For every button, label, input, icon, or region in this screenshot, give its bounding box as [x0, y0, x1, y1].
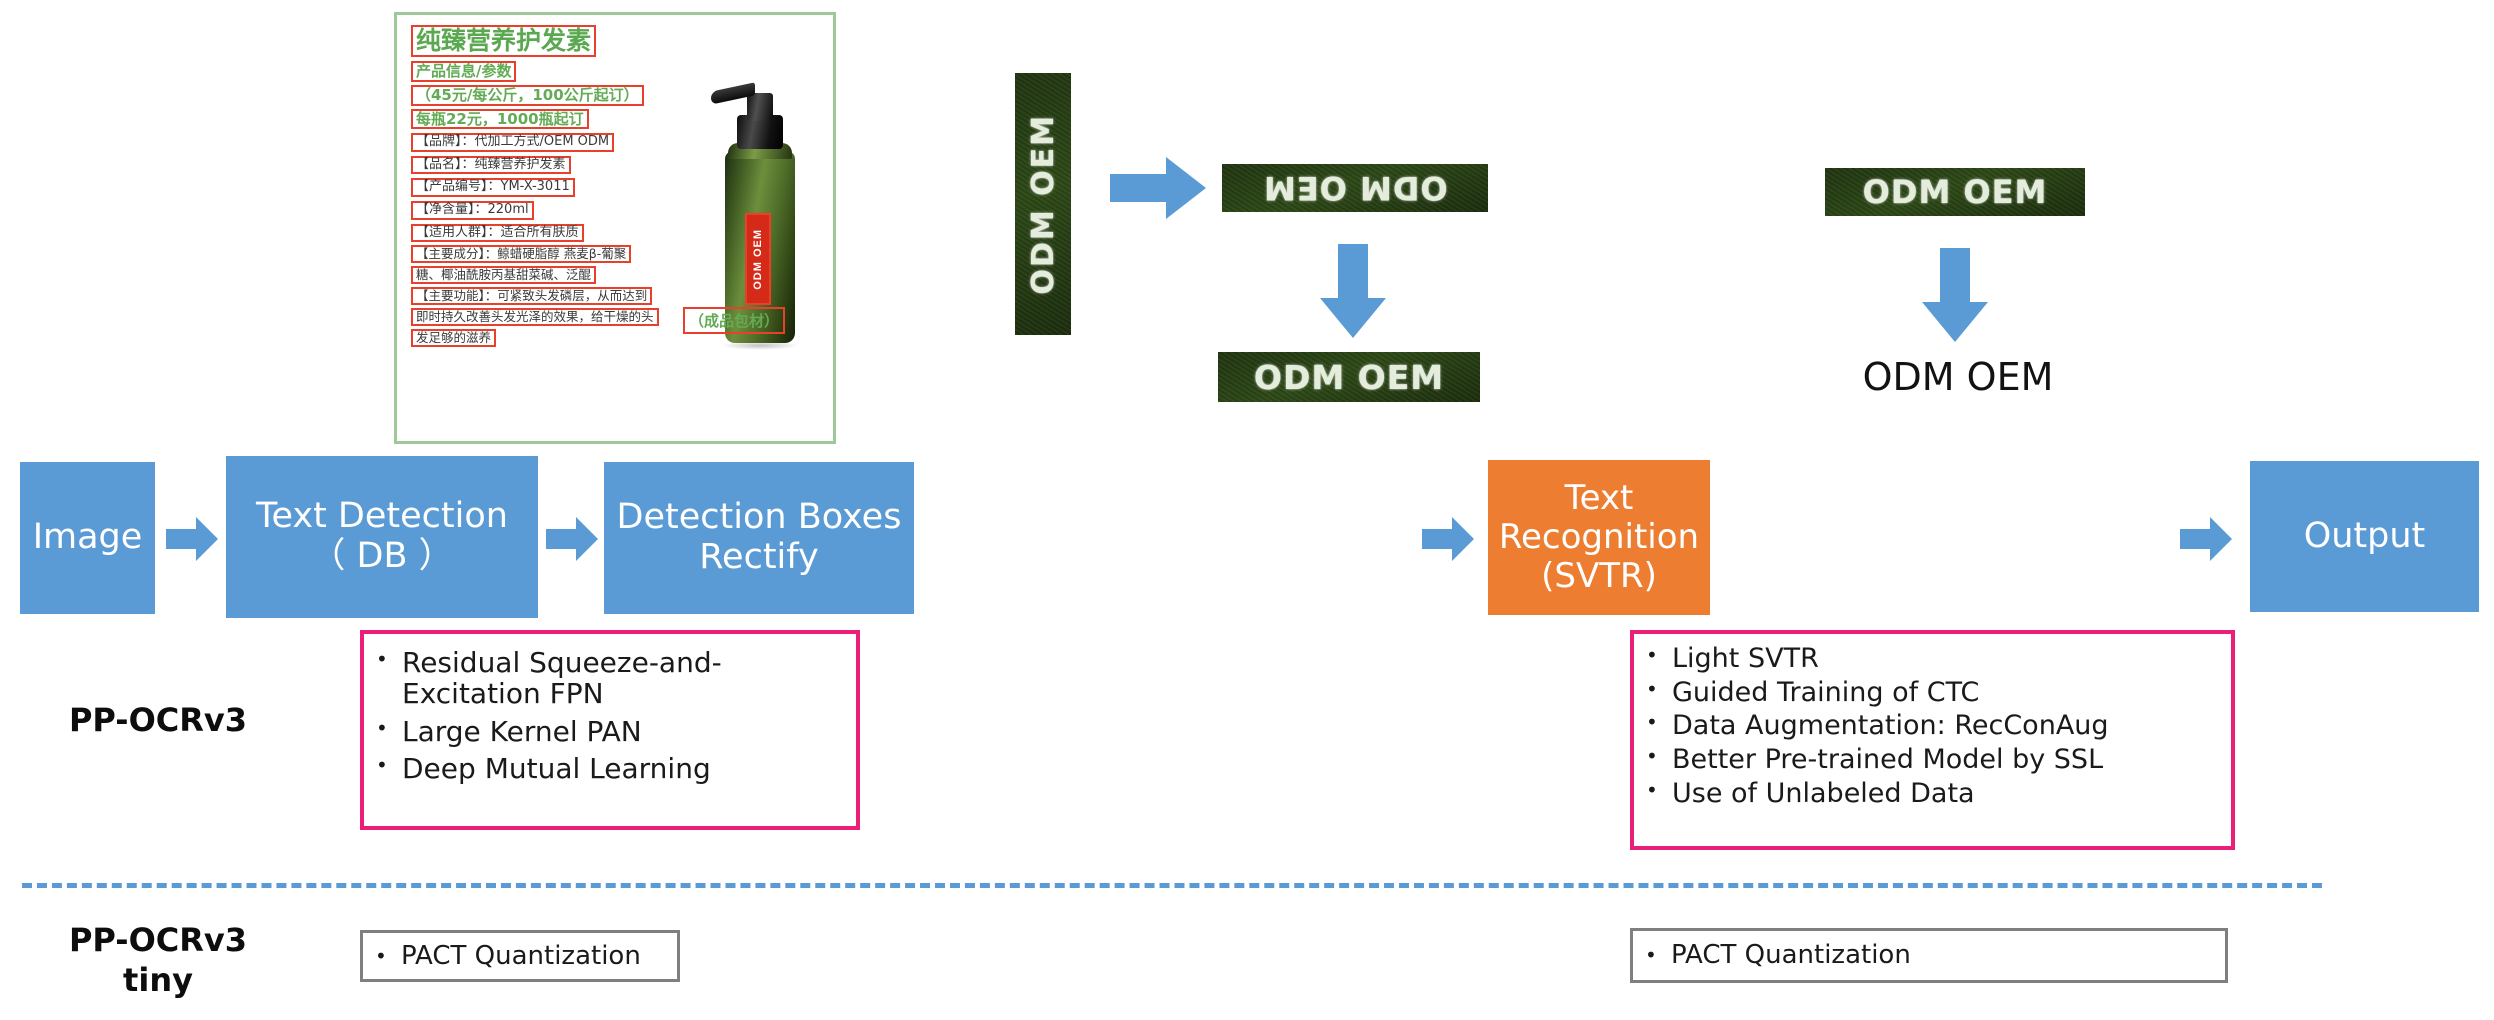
feature-tiny-recognition-item-1: PACT Quantization	[1671, 941, 1911, 970]
bullet-icon: •	[1646, 678, 1672, 701]
bullet-icon: •	[376, 648, 402, 671]
pipeline-box-text-detection[interactable]: Text Detection （ DB ）	[226, 456, 538, 618]
section-divider	[22, 883, 2322, 888]
detection-box-line-2: （45元/每公斤，100公斤起订）	[411, 85, 644, 106]
bullet-icon: •	[375, 945, 401, 968]
detection-box-package-caption: （成品包材）	[683, 307, 785, 334]
list-item: • Deep Mutual Learning	[376, 754, 840, 785]
recognition-output-text: ODM OEM	[1828, 355, 2088, 399]
detection-box-line-4: 【品牌】：代加工方式/OEM ODM	[411, 133, 614, 152]
list-item: • Data Augmentation: RecConAug	[1646, 711, 2217, 741]
detected-text-lines: 纯臻营养护发素 产品信息/参数 （45元/每公斤，100公斤起订） 每瓶22元，…	[411, 25, 691, 350]
recognition-input-crop: ODM OEM	[1825, 168, 2085, 216]
detection-box-line-11: 【主要功能】：可紧致头发磷层，从而达到	[411, 287, 652, 305]
rotated-text-crop: ODM OEM	[1222, 164, 1488, 212]
feature-recognition-item-4: Better Pre-trained Model by SSL	[1672, 745, 2103, 775]
list-item: • Better Pre-trained Model by SSL	[1646, 745, 2217, 775]
detection-box-line-12: 即时持久改善头发光泽的效果，给干燥的头	[411, 308, 659, 326]
product-image-panel: 纯臻营养护发素 产品信息/参数 （45元/每公斤，100公斤起订） 每瓶22元，…	[394, 12, 836, 444]
detection-box-line-7: 【净含量】：220ml	[411, 201, 534, 220]
detection-box-line-6: 【产品编号】：YM-X-3011	[411, 178, 575, 197]
pipeline-box-rectify-line1: Detection Boxes	[617, 498, 902, 538]
product-bottle-image: ODM OEM	[697, 63, 823, 393]
feature-detection-item-1: Residual Squeeze-and-Excitation FPN	[402, 648, 840, 710]
detection-box-line-3: 每瓶22元，1000瓶起订	[411, 109, 589, 130]
bottle-label-text: ODM OEM	[752, 229, 764, 290]
list-item: • Large Kernel PAN	[376, 717, 840, 748]
detection-box-title: 纯臻营养护发素	[411, 25, 596, 57]
feature-recognition-item-3: Data Augmentation: RecConAug	[1672, 711, 2109, 741]
bullet-icon: •	[1646, 711, 1672, 734]
pipeline-box-image[interactable]: Image	[20, 462, 155, 614]
pipeline-box-output[interactable]: Output	[2250, 461, 2479, 612]
detection-box-line-13: 发足够的滋养	[411, 329, 496, 347]
detection-box-line-10: 糖、椰油酰胺丙基甜菜碱、泛醌	[411, 266, 596, 284]
pipeline-box-text-recognition[interactable]: Text Recognition (SVTR)	[1488, 460, 1710, 615]
recognition-input-text: ODM OEM	[1863, 173, 2048, 211]
feature-detection-item-3: Deep Mutual Learning	[402, 754, 711, 785]
pipeline-box-detection-boxes-rectify[interactable]: Detection Boxes Rectify	[604, 462, 914, 614]
feature-list-recognition: • Light SVTR • Guided Training of CTC • …	[1646, 644, 2217, 808]
detection-box-line-1: 产品信息/参数	[411, 61, 516, 82]
row-label-tiny-line2: tiny	[38, 960, 278, 1000]
feature-box-tiny-recognition: • PACT Quantization	[1630, 928, 2228, 983]
list-item: • Residual Squeeze-and-Excitation FPN	[376, 648, 840, 710]
feature-recognition-item-2: Guided Training of CTC	[1672, 678, 1979, 708]
vertical-crop-text: ODM OEM	[1026, 114, 1061, 295]
row-label-tiny-line1: PP-OCRv3	[38, 920, 278, 960]
rotated-crop-text: ODM OEM	[1263, 169, 1448, 207]
pipeline-box-text-detection-line1: Text Detection	[256, 497, 508, 537]
detection-box-bottle-label: ODM OEM	[745, 213, 771, 305]
feature-detection-item-2: Large Kernel PAN	[402, 717, 642, 748]
arrow-right-rectify-1	[1110, 155, 1206, 221]
pipeline-box-recognition-line1: Text Recognition	[1488, 479, 1710, 557]
row-label-ppocrv3: PP-OCRv3	[38, 700, 278, 740]
arrow-right-4	[2180, 516, 2232, 562]
list-item: • Light SVTR	[1646, 644, 2217, 674]
bullet-icon: •	[1646, 745, 1672, 768]
list-item: • Guided Training of CTC	[1646, 678, 2217, 708]
feature-box-tiny-detection: • PACT Quantization	[360, 930, 680, 982]
pipeline-box-image-label: Image	[33, 518, 143, 558]
pipeline-box-recognition-line2: (SVTR)	[1488, 557, 1710, 596]
bullet-icon: •	[1646, 779, 1672, 802]
feature-tiny-detection-item-1: PACT Quantization	[401, 942, 641, 971]
upright-text-crop: ODM OEM	[1218, 352, 1480, 402]
feature-recognition-item-1: Light SVTR	[1672, 644, 1819, 674]
pipeline-box-rectify-line2: Rectify	[617, 538, 902, 578]
upright-crop-text: ODM OEM	[1254, 358, 1444, 397]
feature-list-detection: • Residual Squeeze-and-Excitation FPN • …	[376, 648, 840, 785]
feature-box-recognition: • Light SVTR • Guided Training of CTC • …	[1630, 630, 2235, 850]
list-item: • Use of Unlabeled Data	[1646, 779, 2217, 809]
bullet-icon: •	[1646, 644, 1672, 667]
detection-box-line-5: 【品名】：纯臻营养护发素	[411, 156, 571, 175]
arrow-down-rectify-2	[1318, 244, 1388, 338]
feature-box-detection: • Residual Squeeze-and-Excitation FPN • …	[360, 630, 860, 830]
row-label-ppocrv3-tiny: PP-OCRv3 tiny	[38, 920, 278, 1000]
detection-box-line-9: 【主要成分】：鲸蜡硬脂醇 燕麦β-葡聚	[411, 245, 631, 263]
detection-box-line-8: 【适用人群】：适合所有肤质	[411, 224, 584, 243]
arrow-right-2	[546, 516, 598, 562]
arrow-down-recognition	[1920, 248, 1990, 342]
arrow-right-3	[1422, 516, 1474, 562]
bottle-neck	[747, 93, 773, 121]
feature-recognition-item-5: Use of Unlabeled Data	[1672, 779, 1975, 809]
bullet-icon: •	[376, 754, 402, 777]
pipeline-box-output-label: Output	[2304, 517, 2426, 557]
vertical-text-crop: ODM OEM	[1015, 73, 1071, 335]
arrow-right-1	[166, 516, 218, 562]
pipeline-box-text-detection-line2: （ DB ）	[256, 537, 508, 577]
bullet-icon: •	[1645, 944, 1671, 967]
bullet-icon: •	[376, 717, 402, 740]
